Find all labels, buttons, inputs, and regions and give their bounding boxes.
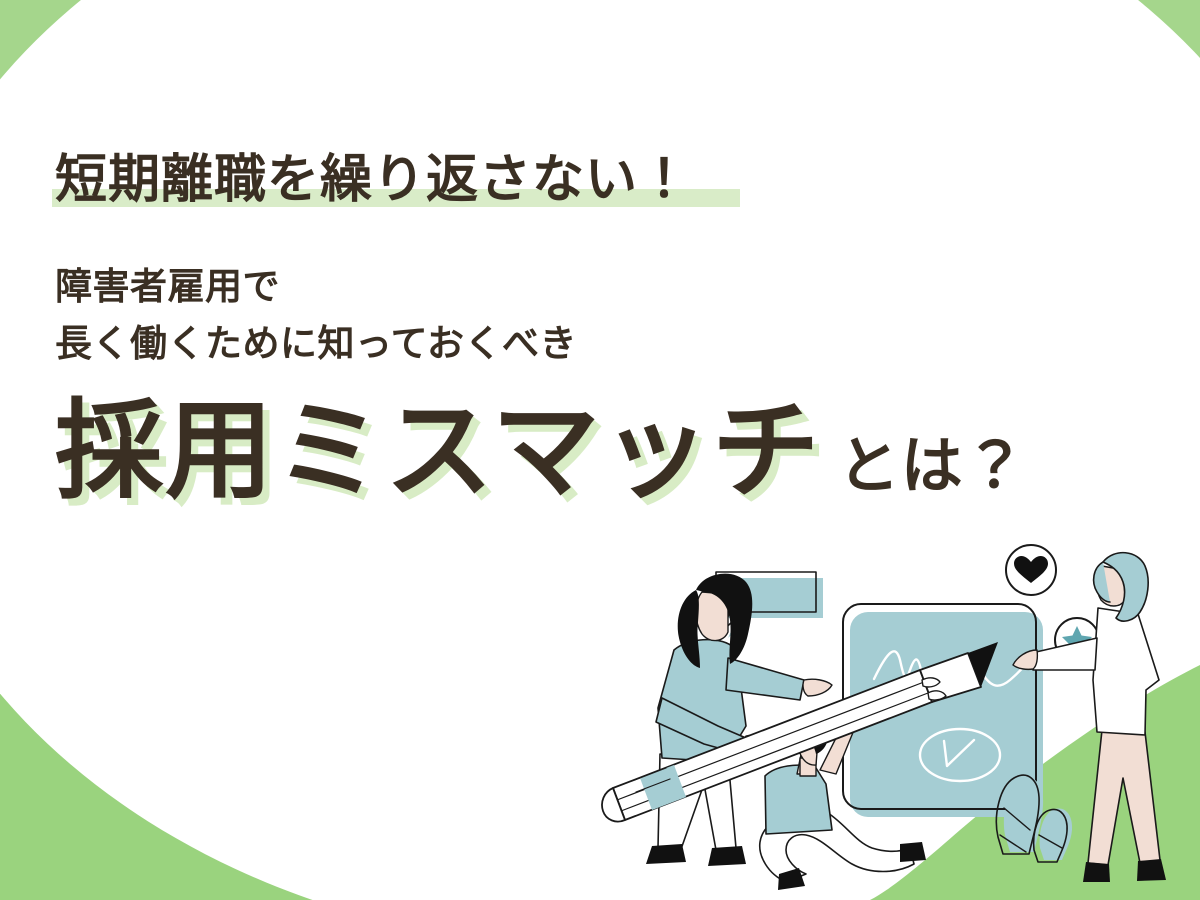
subtitle-line-2: 長く働くために知っておくべき [55,316,1145,372]
main-title-row: 採用ミスマッチ とは？ [55,394,1145,507]
kicker-text: 短期離職を繰り返さない！ [55,150,691,211]
illustration-team-drawing [600,530,1200,900]
heart-badge-group [1006,545,1056,595]
main-title-tail-text: とは？ [838,436,1027,507]
headline-block: 短期離職を繰り返さない！ 障害者雇用で 長く働くために知っておくべき 採用ミスマ… [55,150,1145,507]
slide-canvas: 短期離職を繰り返さない！ 障害者雇用で 長く働くために知っておくべき 採用ミスマ… [0,0,1200,900]
subtitle-line-1: 障害者雇用で [55,259,1145,315]
main-title-text: 採用ミスマッチ [55,394,822,507]
subtitle-lines: 障害者雇用で 長く働くために知っておくべき [55,259,1145,371]
kicker-wrap: 短期離職を繰り返さない！ [55,150,691,211]
